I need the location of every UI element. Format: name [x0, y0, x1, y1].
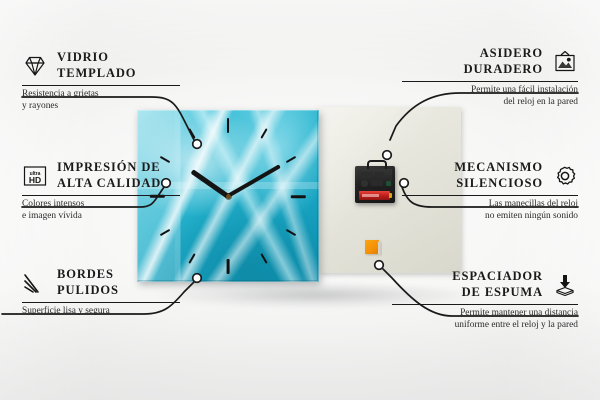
infographic-stage: VIDRIO TEMPLADO Resistencia a grietas y …	[0, 0, 600, 400]
hour-tick	[188, 254, 195, 265]
callout-title: VIDRIO TEMPLADO	[57, 50, 136, 81]
polished-edges-icon	[22, 271, 48, 295]
hour-hand	[191, 169, 230, 198]
callout-espaciador-de-espuma[interactable]: ESPACIADOR DE ESPUMA Permite mantener un…	[392, 269, 578, 331]
callout-rule	[402, 195, 578, 196]
callout-bordes-pulidos[interactable]: BORDES PULIDOS Superficie lisa y segura	[22, 267, 182, 318]
callout-subtitle: y rayones	[22, 101, 182, 113]
callout-header: ESPACIADOR DE ESPUMA	[392, 269, 578, 300]
callout-mecanismo-silencioso[interactable]: MECANISMO SILENCIOSO Las manecillas del …	[402, 160, 578, 222]
callout-title: ESPACIADOR DE ESPUMA	[452, 269, 543, 300]
hour-tick	[227, 259, 230, 274]
battery	[359, 191, 390, 200]
svg-text:HD: HD	[29, 175, 41, 185]
hour-tick	[286, 156, 297, 163]
hour-tick	[286, 229, 297, 236]
clock-mechanism-box	[355, 166, 395, 203]
mechanism-detail	[361, 172, 372, 178]
hour-tick	[227, 118, 230, 133]
callout-subtitle: del reloj en la pared	[402, 97, 578, 109]
callout-asidero-duradero[interactable]: ASIDERO DURADERO Permite una fácil insta…	[402, 46, 578, 108]
clock-hand-hub	[226, 194, 231, 199]
callout-rule	[392, 304, 578, 305]
mechanism-detail	[361, 180, 368, 187]
callout-rule	[22, 85, 180, 86]
ultra-hd-icon: ultra HD	[22, 164, 48, 188]
callout-subtitle: Permite una fácil instalación	[402, 85, 578, 97]
foam-spacer-arrow-icon	[552, 273, 578, 297]
hanging-frame-icon	[552, 50, 578, 74]
minute-hand	[227, 164, 281, 198]
callout-vidrio-templado[interactable]: VIDRIO TEMPLADO Resistencia a grietas y …	[22, 50, 182, 112]
callout-title: ASIDERO DURADERO	[464, 46, 543, 77]
callout-header: ultra HD IMPRESIÓN DE ALTA CALIDAD	[22, 160, 182, 191]
callout-subtitle: Colores intensos	[22, 199, 182, 211]
battery-terminal	[389, 193, 392, 198]
callout-subtitle: Resistencia a grietas	[22, 89, 182, 101]
callout-subtitle: Las manecillas del reloj	[402, 199, 578, 211]
hour-tick	[291, 195, 306, 198]
mechanism-detail	[386, 181, 391, 186]
callout-title: BORDES PULIDOS	[57, 267, 119, 298]
callout-header: MECANISMO SILENCIOSO	[402, 160, 578, 191]
hour-tick	[188, 128, 195, 139]
battery-stripe	[362, 194, 379, 197]
callout-subtitle: e imagen vívida	[22, 211, 182, 223]
callout-header: ASIDERO DURADERO	[402, 46, 578, 77]
foam-spacer	[365, 240, 379, 254]
callout-subtitle: no emiten ningún sonido	[402, 211, 578, 223]
callout-impresion-alta-calidad[interactable]: ultra HD IMPRESIÓN DE ALTA CALIDAD Color…	[22, 160, 182, 222]
callout-rule	[22, 195, 180, 196]
hour-tick	[160, 229, 171, 236]
diamond-icon	[22, 54, 48, 78]
callout-header: VIDRIO TEMPLADO	[22, 50, 182, 81]
mechanism-detail	[371, 180, 383, 186]
callout-subtitle: Permite mantener una distancia	[392, 308, 578, 320]
callout-subtitle: Superficie lisa y segura	[22, 306, 182, 318]
callout-rule	[22, 302, 180, 303]
hour-tick	[261, 128, 268, 139]
gear-icon	[552, 164, 578, 188]
callout-subtitle: uniforme entre el reloj y la pared	[392, 320, 578, 332]
callout-header: BORDES PULIDOS	[22, 267, 182, 298]
callout-rule	[402, 81, 578, 82]
callout-title: IMPRESIÓN DE ALTA CALIDAD	[57, 160, 161, 191]
callout-title: MECANISMO SILENCIOSO	[454, 160, 543, 191]
mechanism-detail	[375, 172, 384, 178]
hour-tick	[261, 254, 268, 265]
